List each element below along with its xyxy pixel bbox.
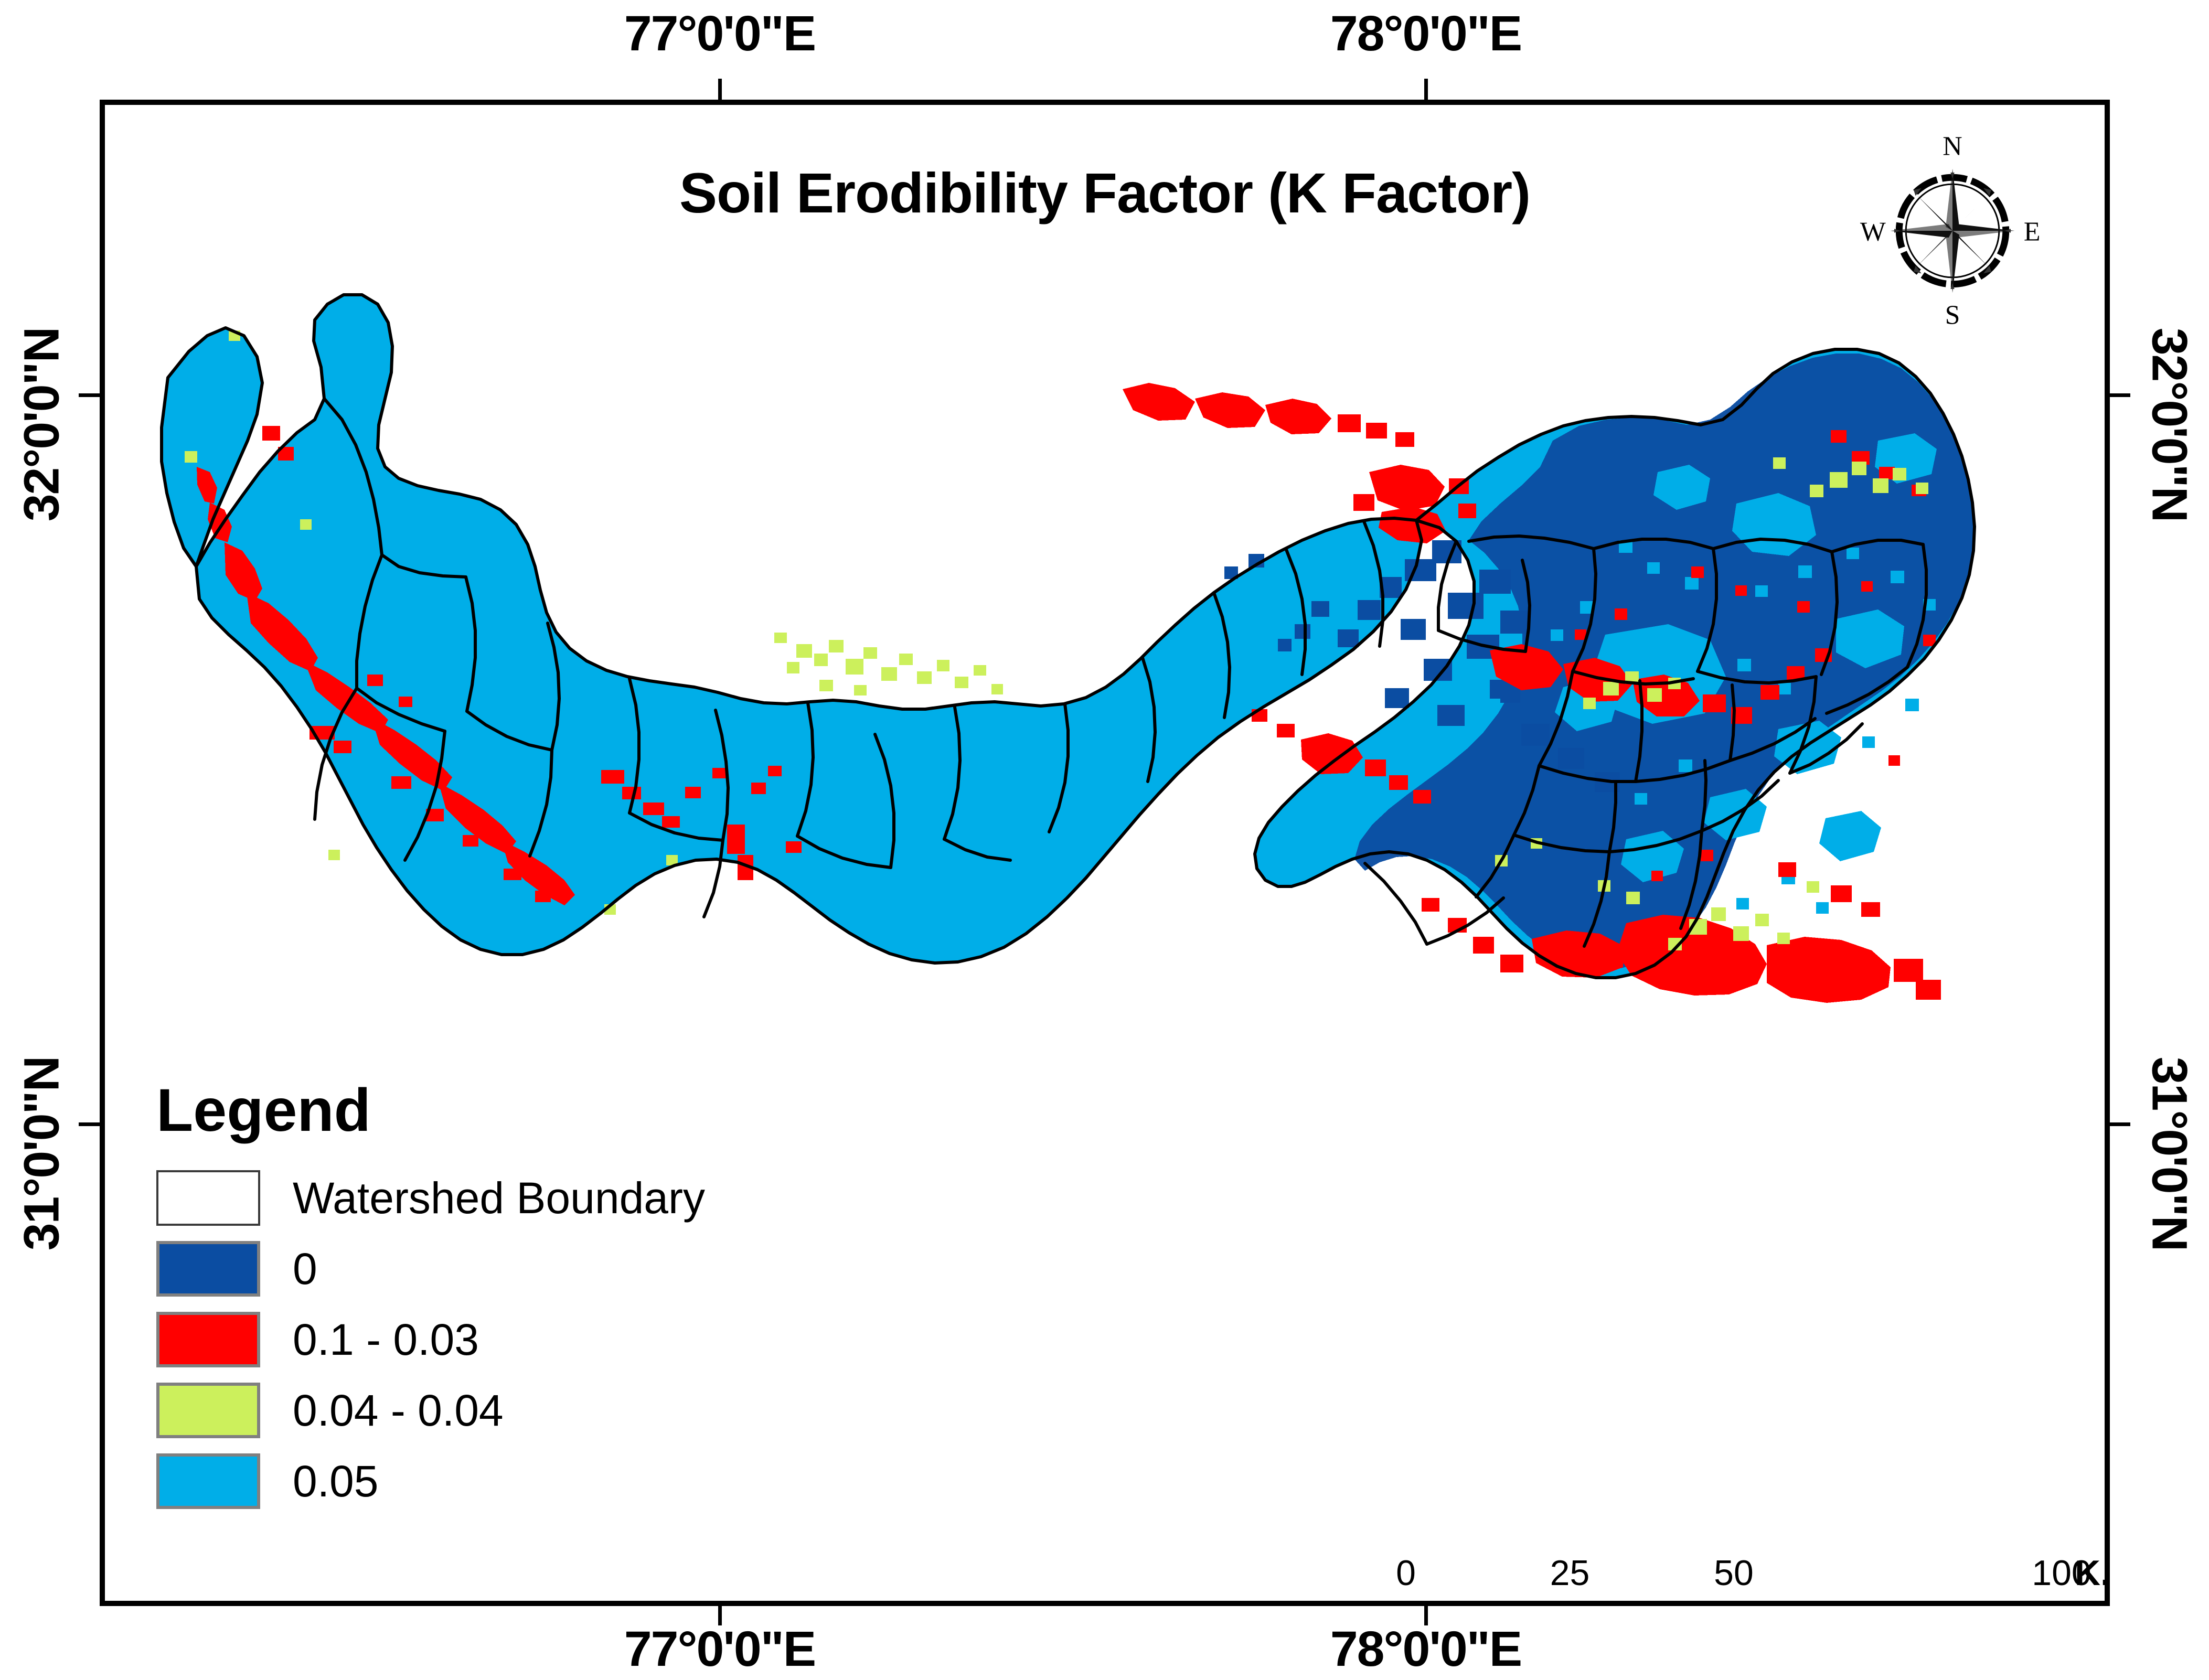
graticule-tick-left-32 bbox=[79, 393, 102, 397]
scale-unit-label: K.M. bbox=[2075, 1553, 2110, 1593]
scale-label-50: 50 bbox=[1714, 1553, 1754, 1593]
graticule-tick-right-32 bbox=[2107, 393, 2130, 397]
map-canvas[interactable]: Soil Erodibility Factor (K Factor) bbox=[100, 100, 2110, 1606]
longitude-label-top-77: 77°0'0"E bbox=[624, 5, 815, 62]
compass-rose: N E S W bbox=[1855, 134, 2050, 328]
graticule-tick-top-78 bbox=[1424, 79, 1428, 102]
scale-bar: 0 25 50 100 K.M. bbox=[1406, 1553, 2062, 1606]
compass-label-south: S bbox=[1945, 301, 1960, 328]
latitude-label-left-31: 31°0'0"N bbox=[14, 1007, 71, 1301]
graticule-tick-left-31 bbox=[79, 1122, 102, 1126]
longitude-label-bottom-78: 78°0'0"E bbox=[1330, 1621, 1521, 1678]
graticule-tick-top-77 bbox=[718, 79, 722, 102]
legend-swatch-k-high bbox=[156, 1453, 260, 1509]
legend-title: Legend bbox=[156, 1080, 770, 1141]
graticule-tick-right-31 bbox=[2107, 1122, 2130, 1126]
compass-label-east: E bbox=[2024, 217, 2041, 247]
legend-item-k-high[interactable]: 0.05 bbox=[141, 1448, 770, 1514]
scale-bar-labels: 0 25 50 100 K.M. bbox=[1406, 1553, 2062, 1598]
legend-item-watershed-boundary[interactable]: Watershed Boundary bbox=[141, 1165, 770, 1230]
legend-panel: Legend Watershed Boundary 0 0.1 - 0.03 0… bbox=[141, 1080, 770, 1519]
compass-label-north: N bbox=[1943, 134, 1962, 162]
compass-label-west: W bbox=[1860, 217, 1886, 247]
legend-label-k-mid: 0.04 - 0.04 bbox=[293, 1388, 504, 1432]
legend-swatch-watershed-boundary bbox=[156, 1170, 260, 1226]
latitude-label-left-32: 32°0'0"N bbox=[14, 278, 71, 572]
legend-swatch-k-low bbox=[156, 1312, 260, 1367]
legend-item-k-mid[interactable]: 0.04 - 0.04 bbox=[141, 1377, 770, 1443]
longitude-label-bottom-77: 77°0'0"E bbox=[624, 1621, 815, 1678]
scale-label-0: 0 bbox=[1396, 1553, 1416, 1593]
latitude-label-right-31: 31°0'0"N bbox=[2141, 1007, 2198, 1301]
legend-label-watershed-boundary: Watershed Boundary bbox=[293, 1176, 705, 1220]
legend-swatch-k-mid bbox=[156, 1383, 260, 1438]
legend-item-k-zero[interactable]: 0 bbox=[141, 1236, 770, 1301]
latitude-label-right-32: 32°0'0"N bbox=[2141, 278, 2198, 572]
legend-label-k-zero: 0 bbox=[293, 1247, 317, 1291]
legend-item-k-low[interactable]: 0.1 - 0.03 bbox=[141, 1307, 770, 1372]
map-page: 77°0'0"E 78°0'0"E 77°0'0"E 78°0'0"E 32°0… bbox=[0, 0, 2209, 1680]
longitude-label-top-78: 78°0'0"E bbox=[1330, 5, 1521, 62]
scale-label-25: 25 bbox=[1550, 1553, 1590, 1593]
legend-swatch-k-zero bbox=[156, 1241, 260, 1297]
legend-label-k-high: 0.05 bbox=[293, 1459, 379, 1503]
legend-label-k-low: 0.1 - 0.03 bbox=[293, 1318, 479, 1362]
